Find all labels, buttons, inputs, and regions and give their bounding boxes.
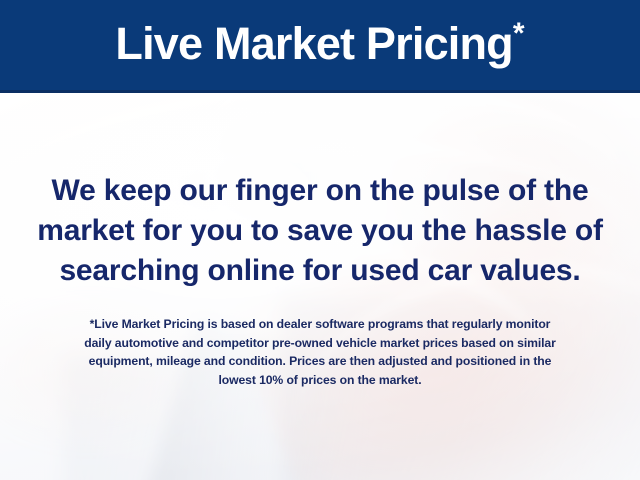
page-title-asterisk: * xyxy=(513,17,525,50)
disclaimer-line-2: daily automotive and competitor pre-owne… xyxy=(0,334,640,353)
header-banner-rule xyxy=(0,90,640,93)
headline-line-3: searching online for used car values. xyxy=(0,251,640,291)
page-title-text: Live Market Pricing xyxy=(115,18,512,69)
headline-text: We keep our finger on the pulse of the m… xyxy=(0,171,640,291)
disclaimer-line-1: *Live Market Pricing is based on dealer … xyxy=(0,315,640,334)
headline-line-2: market for you to save you the hassle of xyxy=(0,211,640,251)
disclaimer-text: *Live Market Pricing is based on dealer … xyxy=(0,315,640,389)
content-area: We keep our finger on the pulse of the m… xyxy=(0,93,640,480)
live-market-pricing-graphic: Live Market Pricing* We keep our finger … xyxy=(0,0,640,480)
page-title: Live Market Pricing* xyxy=(115,21,524,69)
disclaimer-line-4: lowest 10% of prices on the market. xyxy=(0,371,640,390)
headline-line-1: We keep our finger on the pulse of the xyxy=(0,171,640,211)
header-banner: Live Market Pricing* xyxy=(0,0,640,90)
disclaimer-line-3: equipment, mileage and condition. Prices… xyxy=(0,352,640,371)
